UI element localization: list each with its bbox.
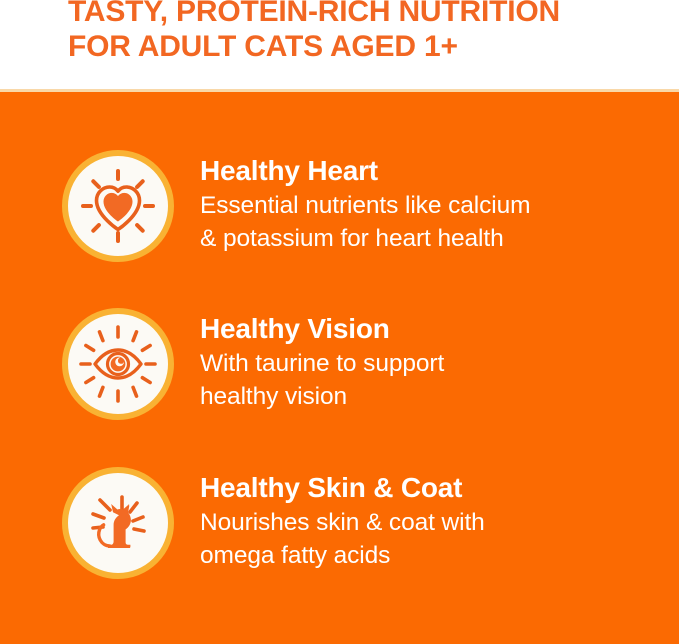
page-title: TASTY, PROTEIN-RICH NUTRITION FOR ADULT …: [68, 0, 668, 64]
benefit-title: Healthy Skin & Coat: [200, 471, 668, 504]
radiant-heart-icon: [62, 150, 174, 262]
benefit-description: Essential nutrients like calcium & potas…: [200, 189, 668, 255]
benefit-description: With taurine to support healthy vision: [200, 347, 668, 413]
benefit-title: Healthy Heart: [200, 154, 668, 187]
radiant-eye-icon: [62, 308, 174, 420]
radiant-cat-icon: [62, 467, 174, 579]
benefit-text-block: Healthy Vision With taurine to support h…: [200, 312, 668, 413]
product-benefits-panel: TASTY, PROTEIN-RICH NUTRITION FOR ADULT …: [0, 0, 679, 644]
benefit-description: Nourishes skin & coat with omega fatty a…: [200, 506, 668, 572]
benefit-text-block: Healthy Skin & Coat Nourishes skin & coa…: [200, 471, 668, 572]
header-band: TASTY, PROTEIN-RICH NUTRITION FOR ADULT …: [0, 0, 679, 90]
benefit-text-block: Healthy Heart Essential nutrients like c…: [200, 154, 668, 255]
benefit-title: Healthy Vision: [200, 312, 668, 345]
benefits-panel: Healthy Heart Essential nutrients like c…: [0, 92, 679, 644]
